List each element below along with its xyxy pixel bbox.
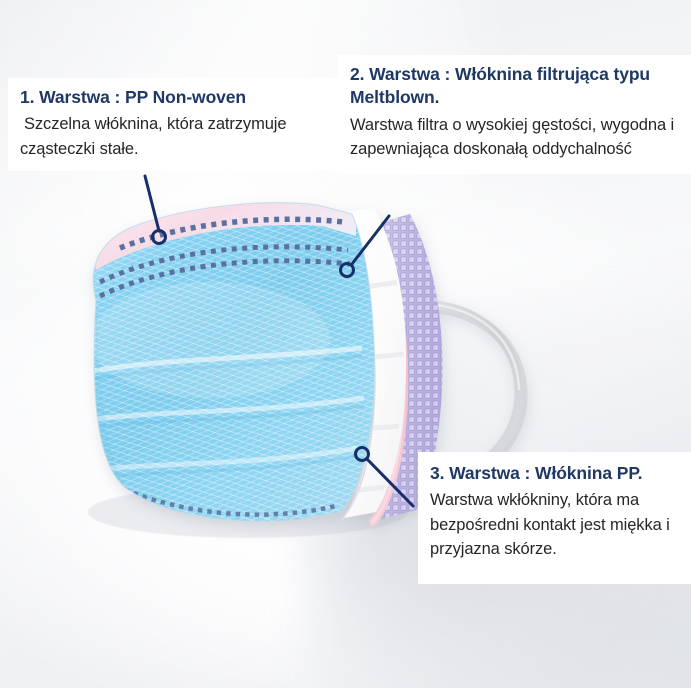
callout-layer-2: 2. Warstwa : Włóknina filtrująca typu Me… [338,55,691,174]
callout-2-heading: 2. Warstwa : Włóknina filtrująca typu Me… [350,63,691,110]
callout-1-body: Szczelna włóknina, która zatrzymuje cząs… [20,112,340,161]
callout-1-heading: 1. Warstwa : PP Non-woven [20,86,340,109]
callout-layer-3: 3. Warstwa : Włóknina PP. Warstwa wkłókn… [418,452,691,584]
callout-3-body: Warstwa wkłókniny, która ma bezpośredni … [430,488,691,561]
layer-outer-blue [80,190,400,540]
callout-layer-1: 1. Warstwa : PP Non-woven Szczelna włókn… [8,78,350,171]
callout-2-body: Warstwa filtra o wysokiej gęstości, wygo… [350,113,691,162]
callout-3-heading: 3. Warstwa : Włóknina PP. [430,462,691,485]
mask-layers-infographic: 1. Warstwa : PP Non-woven Szczelna włókn… [0,0,691,688]
